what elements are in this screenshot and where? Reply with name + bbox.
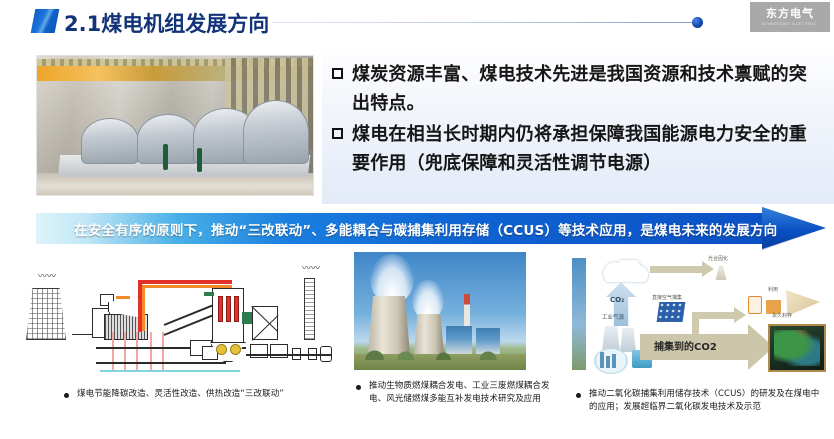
photo-turbine-casing-detail (137, 114, 199, 164)
lower-content-area: 〰〰 〰〰 (0, 252, 834, 439)
page-title: 2.1煤电机组发展方向 (64, 8, 269, 38)
photo-generator-casing-detail (243, 100, 309, 164)
upper-content-area: 煤炭资源丰富、煤电技术先进是我国资源和技术禀赋的突出特点。 煤电在相当长时期内仍… (0, 44, 834, 204)
schematic-stack (304, 278, 315, 340)
panel-caption: 煤电节能降碳改造、灵活性改造、供热改造“三改联动” (4, 378, 342, 401)
bullet-text: 煤炭资源丰富、煤电技术先进是我国资源和技术禀赋的突出特点。 (352, 60, 820, 118)
panel-process-schematic: 〰〰 〰〰 (4, 252, 342, 401)
schematic-fan (216, 344, 227, 355)
panel-caption: 推动二氧化碳捕集利用储存技术（CCUS）的研发及在煤电中的应用；发展超临界二氧化… (572, 378, 830, 413)
schematic-main-steam-line (138, 280, 232, 284)
schematic-green-detail (204, 292, 214, 296)
schematic-drain-line (150, 332, 152, 370)
square-bullet-icon (332, 128, 343, 139)
banner-text: 在安全有序的原则下，推动“三改联动”、多能耦合与碳捕集利用存储（CCUS）等技术… (74, 213, 777, 244)
schematic-line (246, 354, 332, 356)
schematic-drain-line (112, 332, 114, 370)
photosynthesis-icon (712, 264, 730, 280)
photo-trees-detail (354, 340, 526, 360)
caption-text: 推动生物质燃煤耦合发电、工业三废燃煤耦合发电、风光储燃煤多能互补发电技术研究及应… (369, 380, 564, 405)
industrial-source-label: 工业气源 (602, 313, 624, 321)
storage-reservoir-detail (774, 330, 820, 366)
direction-arrow-banner: 在安全有序的原则下，推动“三改联动”、多能耦合与碳捕集利用存储（CCUS）等技术… (36, 213, 826, 244)
captured-co2-label: 捕集到的CO2 (654, 338, 717, 353)
schematic-steam-icon: 〰〰 (38, 274, 56, 281)
power-plant-photo (354, 252, 526, 370)
schematic-drain-line (124, 332, 126, 370)
caption-text: 推动二氧化碳捕集利用储存技术（CCUS）的研发及在煤电中的应用；发展超临界二氧化… (589, 388, 826, 413)
utilization-label: 利用 (768, 286, 778, 293)
round-bullet-icon (576, 393, 581, 398)
diagram-left-photo-strip (572, 258, 586, 370)
bullet-item: 煤电在相当长时期内仍将承担保障我国能源电力安全的重要作用（兜底保障和灵活性调节电… (332, 120, 820, 178)
flow-arrow-head-icon (734, 307, 746, 323)
direct-air-capture-panel-icon (657, 302, 686, 322)
panel-ccus-diagram: CO₂ 工业气源 捕集到的CO2 (572, 252, 830, 413)
slide-root: 2.1煤电机组发展方向 东方电气 DONGFANG ELECTRIC 煤炭资源丰 (0, 0, 834, 439)
direct-air-capture-label: 直接空气捕集 (652, 294, 682, 301)
bullet-list-panel: 煤炭资源丰富、煤电技术先进是我国资源和技术禀赋的突出特点。 煤电在相当长时期内仍… (322, 44, 834, 204)
caption-text: 煤电节能降碳改造、灵活性改造、供热改造“三改联动” (77, 388, 284, 401)
diagram-chimney-icon (612, 354, 616, 368)
process-schematic-diagram: 〰〰 〰〰 (4, 252, 342, 378)
photosynthesis-label: 光合固化 (708, 255, 728, 262)
schematic-burner (234, 296, 239, 322)
flow-arrow-shaft (650, 266, 704, 273)
schematic-fan (230, 344, 241, 355)
schematic-burner (218, 296, 223, 322)
geological-storage-image (768, 324, 826, 372)
bullet-text: 煤电在相当长时期内仍将承担保障我国能源电力安全的重要作用（兜底保障和灵活性调节电… (352, 120, 820, 178)
company-logo: 东方电气 DONGFANG ELECTRIC (750, 2, 830, 32)
schematic-conveyor (164, 305, 213, 326)
schematic-line (96, 362, 226, 364)
flow-arrow-shaft (692, 312, 736, 319)
round-bullet-icon (64, 393, 69, 398)
schematic-conveyor (164, 315, 213, 336)
panel-plant-photo: 推动生物质燃煤耦合发电、工业三废燃煤耦合发电、风光储燃煤多能互补发电技术研究及应… (348, 252, 568, 405)
bullet-item: 煤炭资源丰富、煤电技术先进是我国资源和技术禀赋的突出特点。 (332, 60, 820, 118)
panel-caption: 推动生物质燃煤耦合发电、工业三废燃煤耦合发电、风光储燃煤多能互补发电技术研究及应… (348, 370, 568, 405)
co2-label: CO₂ (610, 296, 624, 304)
flow-arrow-head-icon (702, 261, 714, 277)
title-end-dot-icon (692, 17, 703, 28)
schematic-reheat-line (142, 285, 145, 331)
ccus-flow-diagram: CO₂ 工业气源 捕集到的CO2 (572, 252, 830, 378)
schematic-burner (226, 296, 231, 322)
cloud-icon (602, 260, 648, 282)
schematic-stack-steam-icon: 〰〰 (302, 266, 320, 273)
photo-pipe-detail (163, 144, 168, 170)
logo-chinese-text: 东方电气 (766, 8, 814, 20)
schematic-water-line (100, 370, 240, 372)
round-bullet-icon (356, 385, 361, 390)
schematic-cooling-tower (26, 288, 66, 340)
permanent-storage-label: 永久封存 (772, 312, 792, 319)
title-divider-line (272, 22, 698, 23)
slide-header: 2.1煤电机组发展方向 东方电气 DONGFANG ELECTRIC (0, 0, 834, 44)
diagram-chimney-icon (606, 356, 610, 368)
schematic-hot-line (116, 296, 130, 299)
photo-turbine-casing-detail (81, 118, 139, 164)
photo-pipe-detail (197, 148, 202, 172)
fuel-pump-icon (748, 296, 762, 314)
diagram-cooling-tower-icon (620, 328, 636, 352)
title-accent-bar (31, 9, 60, 33)
schematic-drain-line (162, 332, 164, 370)
logo-english-text: DONGFANG ELECTRIC (763, 20, 818, 27)
square-bullet-icon (332, 68, 343, 79)
diagram-chimney-icon (600, 352, 604, 368)
turbine-hall-photo (36, 55, 314, 196)
schematic-drain-line (136, 332, 138, 370)
